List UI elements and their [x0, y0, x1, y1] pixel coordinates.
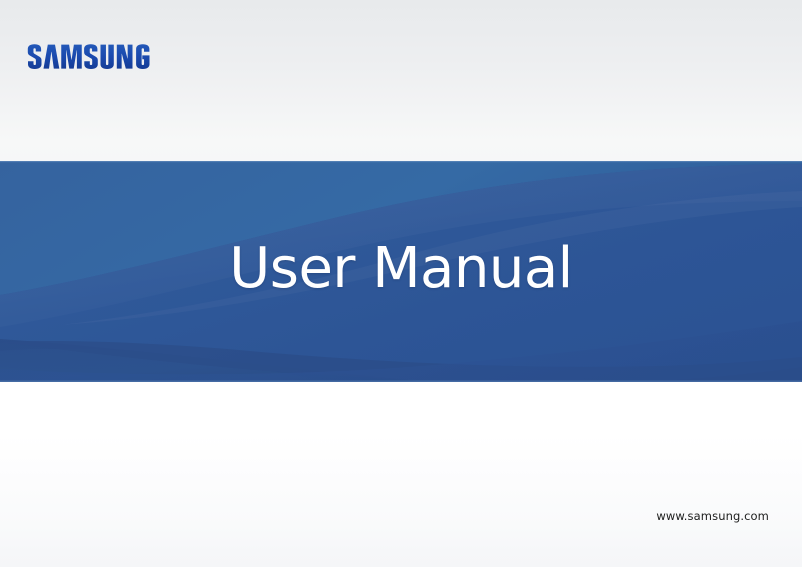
cover-banner: User Manual — [0, 161, 802, 382]
page-body — [0, 382, 802, 567]
page-title: User Manual — [0, 161, 802, 382]
page-header — [0, 0, 802, 161]
footer-website-url[interactable]: www.samsung.com — [656, 509, 769, 523]
manual-cover-page: User Manual www.samsung.com — [0, 0, 802, 567]
samsung-wordmark-logo — [27, 43, 177, 70]
